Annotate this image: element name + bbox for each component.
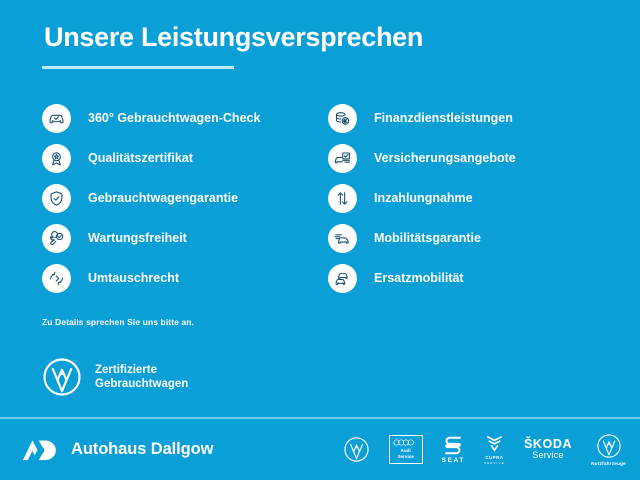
benefit-item[interactable]: Wartungsfreiheit bbox=[42, 218, 332, 258]
benefit-label: Ersatzmobilität bbox=[374, 272, 464, 285]
benefit-label: Gebrauchtwagengarantie bbox=[88, 192, 238, 205]
nutzfahrzeuge-caption: Nutzfahrzeuge bbox=[591, 461, 626, 466]
benefit-item[interactable]: Umtauschrecht bbox=[42, 258, 332, 298]
car-insurance-icon bbox=[328, 144, 357, 173]
benefit-item[interactable]: Qualitätszertifikat bbox=[42, 138, 332, 178]
coins-euro-icon bbox=[328, 104, 357, 133]
vw-roundel-icon bbox=[42, 357, 82, 397]
page-title: Unsere Leistungsversprechen bbox=[44, 22, 423, 53]
cupra-caption: CUPRA SERVICE bbox=[484, 455, 505, 465]
volkswagen-logo bbox=[343, 429, 370, 471]
benefit-label: 360° Gebrauchtwagen-Check bbox=[88, 112, 260, 125]
cupra-service-logo: CUPRA SERVICE bbox=[484, 429, 505, 471]
audi-caption: Audi Service bbox=[397, 448, 413, 459]
up-down-arrows-icon bbox=[328, 184, 357, 213]
award-seal-icon bbox=[42, 144, 71, 173]
brand-logos: Audi Service SEAT CUPRA SERVICE bbox=[343, 429, 626, 471]
benefit-label: Mobilitätsgarantie bbox=[374, 232, 481, 245]
car-check-icon bbox=[42, 104, 71, 133]
benefit-label: Finanzdienstleistungen bbox=[374, 112, 513, 125]
certified-line-2: Gebrauchtwagen bbox=[95, 377, 188, 391]
benefit-item[interactable]: 360° Gebrauchtwagen-Check bbox=[42, 98, 332, 138]
benefit-label: Qualitätszertifikat bbox=[88, 152, 193, 165]
benefit-item[interactable]: Ersatzmobilität bbox=[328, 258, 628, 298]
footer-bar: Autohaus Dallgow Audi Service bbox=[0, 419, 640, 480]
benefit-item[interactable]: Mobilitätsgarantie bbox=[328, 218, 628, 258]
benefit-label: Wartungsfreiheit bbox=[88, 232, 187, 245]
car-speed-icon bbox=[328, 224, 357, 253]
title-underline bbox=[42, 66, 234, 69]
benefit-item[interactable]: Versicherungsangebote bbox=[328, 138, 628, 178]
shield-check-icon bbox=[42, 184, 71, 213]
certified-used-cars-block: Zertifizierte Gebrauchtwagen bbox=[42, 357, 188, 397]
skoda-wordmark: ŠKODA bbox=[524, 438, 572, 451]
audi-service-logo: Audi Service bbox=[389, 429, 423, 471]
seat-wordmark: SEAT bbox=[442, 457, 465, 464]
benefit-item[interactable]: Finanzdienstleistungen bbox=[328, 98, 628, 138]
wrench-check-icon bbox=[42, 224, 71, 253]
benefit-label: Umtauschrecht bbox=[88, 272, 179, 285]
dealer-name: Autohaus Dallgow bbox=[71, 440, 213, 459]
skoda-service-caption: Service bbox=[532, 451, 563, 461]
benefit-item[interactable]: Inzahlungnahme bbox=[328, 178, 628, 218]
benefit-item[interactable]: Gebrauchtwagengarantie bbox=[42, 178, 332, 218]
certified-label: Zertifizierte Gebrauchtwagen bbox=[95, 363, 188, 392]
benefit-label: Inzahlungnahme bbox=[374, 192, 473, 205]
benefit-label: Versicherungsangebote bbox=[374, 152, 516, 165]
benefits-column-right: Finanzdienstleistungen Versicherungsange… bbox=[328, 98, 628, 298]
ad-monogram-icon bbox=[21, 437, 59, 463]
skoda-service-logo: ŠKODA Service bbox=[524, 429, 572, 471]
dealer-branding[interactable]: Autohaus Dallgow bbox=[21, 437, 213, 463]
certified-line-1: Zertifizierte bbox=[95, 363, 188, 377]
vw-nutzfahrzeuge-logo: Nutzfahrzeuge bbox=[591, 429, 626, 471]
details-note: Zu Details sprechen Sie uns bitte an. bbox=[42, 317, 194, 327]
benefits-column-left: 360° Gebrauchtwagen-Check Qualitätszerti… bbox=[42, 98, 332, 298]
seat-logo: SEAT bbox=[442, 429, 465, 471]
exchange-arrows-icon bbox=[42, 264, 71, 293]
two-cars-icon bbox=[328, 264, 357, 293]
